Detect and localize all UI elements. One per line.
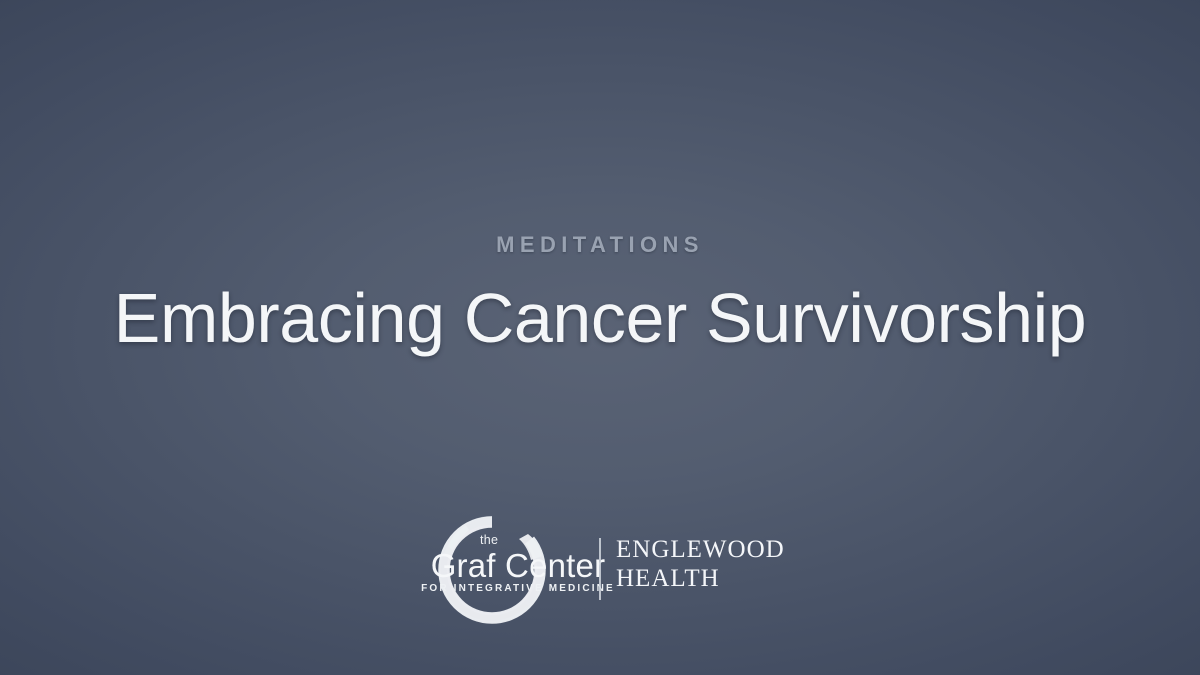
partner-name-line1: ENGLEWOOD — [616, 535, 785, 564]
slide-title: Embracing Cancer Survivorship — [114, 281, 1087, 357]
logo-lockup: the Graf Center FOR INTEGRATIVE MEDICINE… — [414, 508, 786, 632]
partner-name-line2: HEALTH — [616, 564, 785, 593]
title-slide: MEDITATIONS Embracing Cancer Survivorshi… — [0, 0, 1200, 675]
logo-tagline: FOR INTEGRATIVE MEDICINE — [416, 584, 620, 594]
logo-divider — [599, 538, 601, 600]
englewood-health-logo: ENGLEWOOD HEALTH — [616, 535, 785, 593]
logo-the-word: the — [480, 534, 498, 547]
slide-kicker: MEDITATIONS — [496, 234, 704, 256]
logo-wordmark: Graf Center — [416, 549, 620, 582]
graf-center-logo: the Graf Center FOR INTEGRATIVE MEDICINE — [414, 508, 620, 632]
